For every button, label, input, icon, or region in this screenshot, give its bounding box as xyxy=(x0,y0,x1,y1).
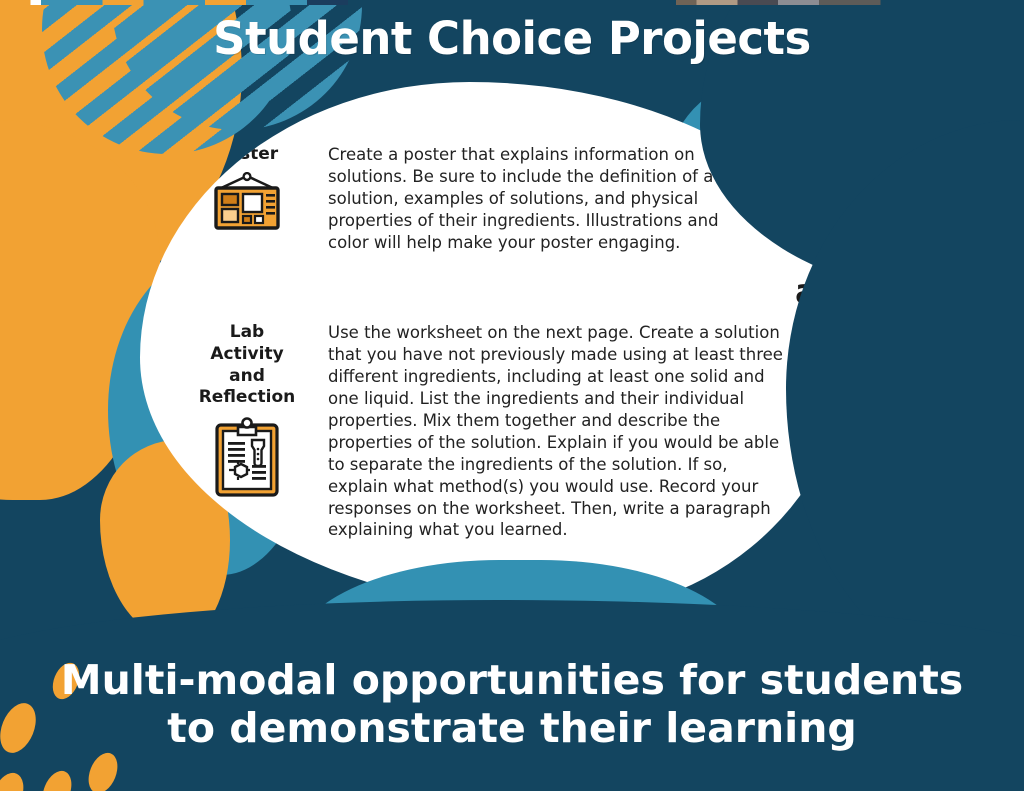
choice-row-poster: Poster xyxy=(188,144,788,254)
slide-caption: Multi-modal opportunities for students t… xyxy=(0,656,1024,753)
choice-text-lab-activity: Use the worksheet on the next page. Crea… xyxy=(328,322,786,541)
choice-row-lab-activity: Lab Activity and Reflection xyxy=(188,322,808,541)
label-line: Activity xyxy=(210,344,283,364)
choice-label-cell: Teach a xyxy=(188,582,306,604)
label-line: Lab xyxy=(230,322,264,342)
choice-label-teach: Teach a xyxy=(188,582,306,604)
choice-label-poster: Poster xyxy=(188,144,306,166)
slide-canvas: Poster xyxy=(0,0,1024,791)
choice-text-poster: Create a poster that explains informatio… xyxy=(328,144,748,254)
caption-line-1: Multi-modal opportunities for students xyxy=(0,656,1024,704)
label-line: Reflection xyxy=(199,387,296,407)
previous-slide-sliver xyxy=(0,0,1024,5)
poster-icon xyxy=(188,172,306,234)
label-line: and xyxy=(229,366,265,386)
choice-label-lab-activity: Lab Activity and Reflection xyxy=(188,322,306,409)
choice-label-cell: Lab Activity and Reflection xyxy=(188,322,306,541)
page-title: Student Choice Projects xyxy=(0,12,1024,65)
choice-label-cell: Poster xyxy=(188,144,306,254)
caption-line-2: to demonstrate their learning xyxy=(0,704,1024,752)
clipboard-lab-icon xyxy=(188,415,306,499)
